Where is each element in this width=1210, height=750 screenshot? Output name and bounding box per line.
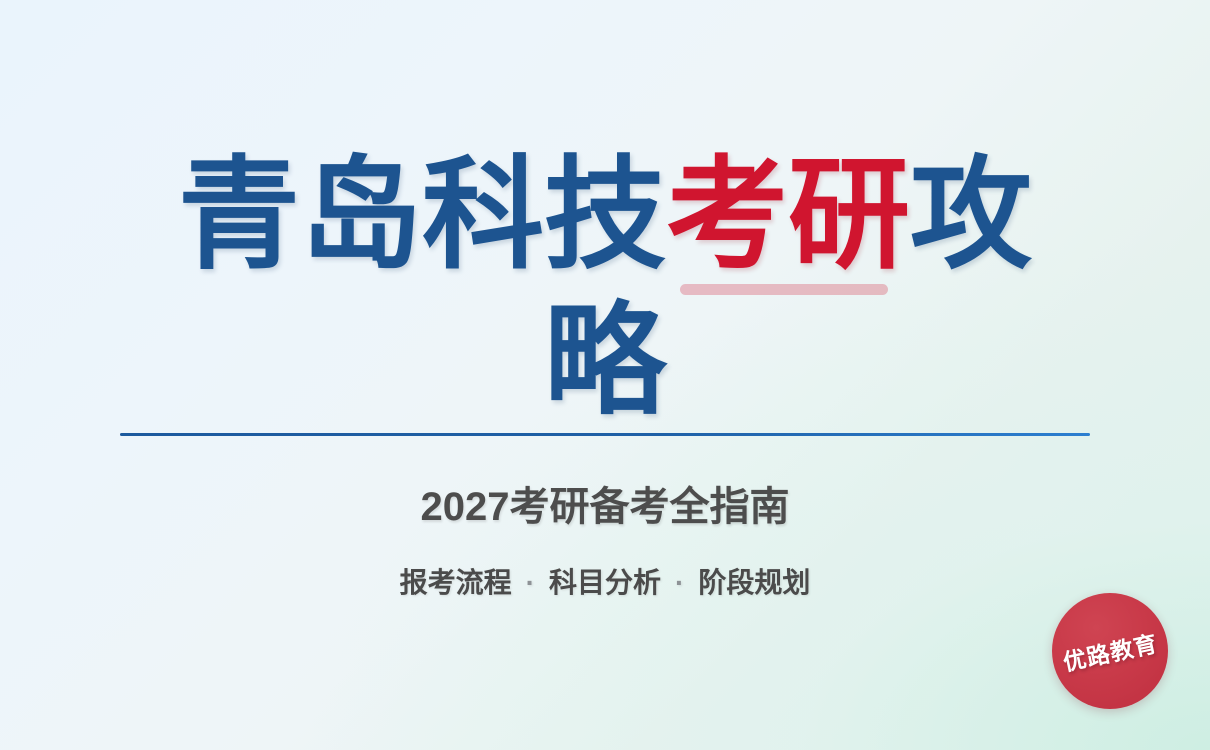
title-lead-text: 青岛科技 [178, 147, 666, 283]
accent-underline-bar [680, 284, 888, 295]
tagline-row: 报考流程·科目分析·阶段规划 [0, 563, 1210, 603]
title-block: 青岛科技考研攻略 [0, 142, 1210, 434]
tagline-item-1: 报考流程 [400, 567, 512, 598]
subtitle: 2027考研备考全指南 [0, 482, 1210, 532]
tagline-item-3: 阶段规划 [698, 567, 810, 598]
brand-badge-label: 优路教育 [1060, 624, 1161, 677]
brand-badge: 优路教育 [1052, 593, 1168, 709]
page-title: 青岛科技考研攻略 [120, 142, 1090, 434]
section-divider [120, 433, 1090, 436]
tagline-separator-1: · [526, 567, 535, 598]
tagline-separator-2: · [675, 567, 684, 598]
tagline-item-2: 科目分析 [549, 567, 661, 598]
title-accent-text: 考研 [666, 147, 910, 283]
poster-canvas: 青岛科技考研攻略 2027考研备考全指南 报考流程·科目分析·阶段规划 优路教育 [0, 0, 1210, 750]
